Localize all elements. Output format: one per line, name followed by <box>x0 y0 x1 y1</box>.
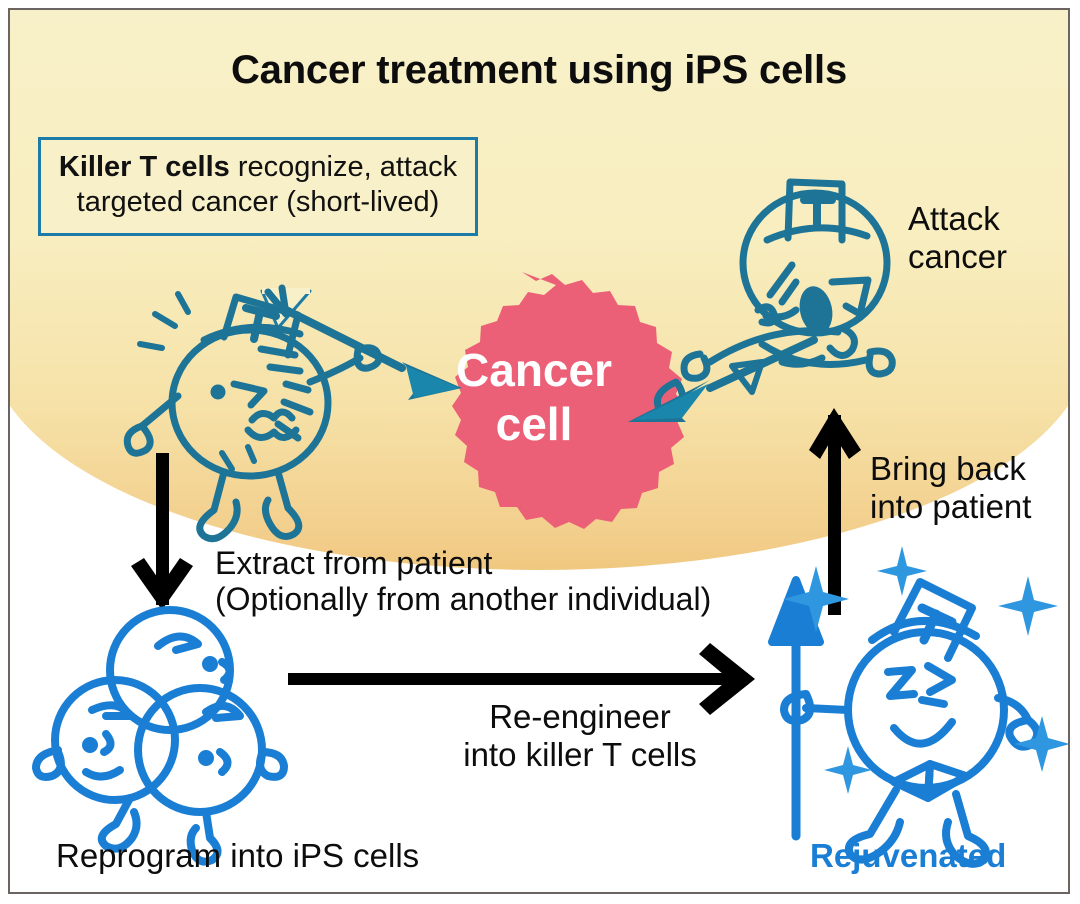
label-rejuvenated: Rejuvenated <box>810 837 1006 875</box>
page-title: Cancer treatment using iPS cells <box>10 48 1068 94</box>
label-re-engineer: Re-engineer into killer T cells <box>440 698 720 773</box>
rejuvenated-killer-t-cell <box>772 580 1037 864</box>
callout-bold-lead: Killer T cells <box>59 151 230 183</box>
label-reprogram-into-ips-cells: Reprogram into iPS cells <box>56 837 419 875</box>
label-extract-from-patient: Extract from patient (Optionally from an… <box>215 545 711 618</box>
label-attack-cancer: Attack cancer <box>908 200 1007 275</box>
cancer-cell-label-line1: Cancer <box>456 344 612 396</box>
attacking-killer-t-cell <box>657 182 892 413</box>
figure-panel: Cancer cell <box>8 8 1070 894</box>
teal-arrow-into-cancer-left <box>402 362 462 400</box>
down-arrow-extract <box>131 453 193 610</box>
cancer-cell: Cancer cell <box>452 272 686 529</box>
cancer-cell-label-line2: cell <box>496 398 573 450</box>
label-bring-back: Bring back into patient <box>870 450 1031 525</box>
killer-t-cell-callout: Killer T cells recognize, attack targete… <box>38 137 478 236</box>
ips-cell-cluster <box>36 610 284 862</box>
